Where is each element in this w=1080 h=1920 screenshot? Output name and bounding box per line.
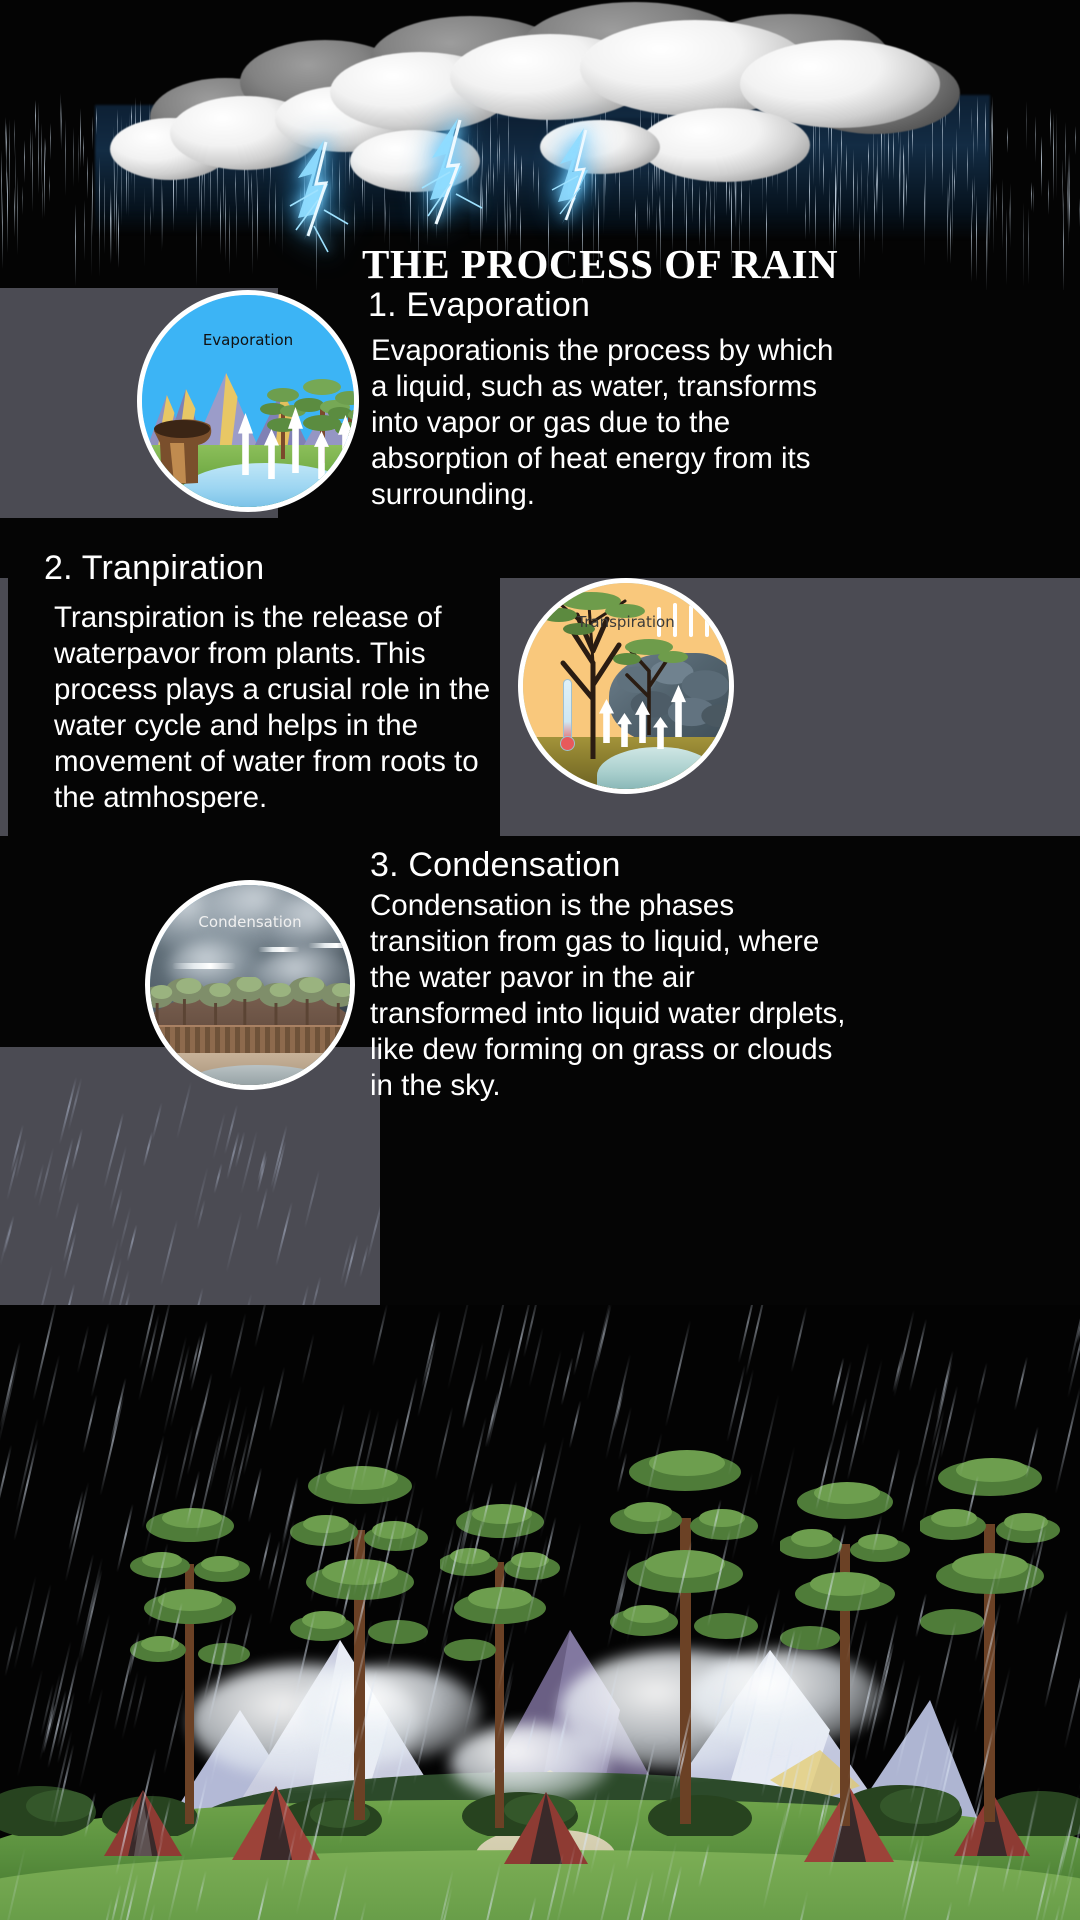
rain-streak bbox=[669, 1698, 695, 1804]
rain-streak bbox=[150, 1305, 172, 1383]
rain-streak bbox=[196, 206, 197, 286]
rain-streak bbox=[78, 134, 79, 184]
rain-streak bbox=[1010, 183, 1011, 248]
rain-streak bbox=[971, 108, 972, 136]
rain-streak bbox=[213, 1464, 237, 1560]
rain-streak bbox=[226, 1212, 243, 1273]
rain-streak bbox=[775, 1736, 794, 1811]
rain-streak bbox=[209, 1728, 224, 1786]
rain-streak bbox=[35, 1265, 53, 1309]
section-3-background-band bbox=[0, 1047, 380, 1309]
rain-streak bbox=[956, 128, 957, 180]
rain-streak bbox=[987, 183, 988, 271]
rain-streak bbox=[942, 1901, 953, 1920]
rain-streak bbox=[251, 1877, 270, 1920]
rain-streak bbox=[726, 1365, 746, 1442]
rain-streak bbox=[116, 1504, 134, 1573]
rain-streak bbox=[1025, 1426, 1039, 1478]
rain-streak bbox=[45, 138, 46, 164]
rain-streak bbox=[447, 1305, 471, 1390]
rain-streak bbox=[258, 1531, 271, 1581]
rain-streak bbox=[160, 1220, 178, 1286]
rain-streak bbox=[201, 165, 202, 250]
rain-streak bbox=[1064, 1641, 1080, 1749]
rain-streak bbox=[476, 1862, 501, 1920]
rain-streak bbox=[304, 1170, 320, 1229]
rain-streak bbox=[1031, 182, 1032, 211]
rain-streak bbox=[1028, 208, 1029, 285]
rain-streak bbox=[846, 144, 847, 191]
rain-streak bbox=[731, 1473, 753, 1562]
rain-streak bbox=[101, 1256, 115, 1305]
rain-streak bbox=[815, 1441, 833, 1511]
rain-streak bbox=[596, 1862, 615, 1920]
rain-streak bbox=[1015, 1793, 1040, 1893]
rain-streak bbox=[965, 1475, 979, 1527]
rain-streak bbox=[837, 141, 838, 191]
transpiration-illustration: Transpiration bbox=[518, 578, 734, 794]
rain-streak bbox=[90, 1323, 109, 1398]
rain-streak bbox=[937, 1718, 957, 1798]
rain-streak bbox=[341, 1901, 367, 1920]
rain-streak bbox=[326, 1865, 348, 1920]
rain-streak bbox=[950, 208, 951, 264]
rain-streak bbox=[906, 173, 907, 207]
rain-streak bbox=[877, 1642, 894, 1710]
rain-streak bbox=[734, 1604, 751, 1668]
rain-streak bbox=[979, 1603, 1002, 1693]
rain-streak bbox=[1023, 202, 1024, 287]
rain-streak bbox=[435, 1407, 454, 1481]
rain-streak bbox=[805, 200, 806, 240]
cloud-streak bbox=[308, 943, 355, 948]
rain-streak bbox=[497, 1620, 516, 1694]
rain-streak bbox=[252, 188, 253, 275]
rain-streak bbox=[229, 1313, 246, 1380]
rain-streak bbox=[0, 1355, 20, 1449]
rain-streak bbox=[525, 1714, 536, 1755]
rain-streak bbox=[229, 204, 230, 274]
rain-streak bbox=[754, 1394, 779, 1496]
rain-streak bbox=[1035, 116, 1036, 162]
tree-stump bbox=[150, 413, 218, 485]
rain-streak bbox=[5, 117, 6, 157]
rain-streak bbox=[935, 1725, 960, 1825]
rain-streak bbox=[882, 181, 883, 255]
rain-streak bbox=[648, 1507, 663, 1563]
rain-streak bbox=[269, 1367, 286, 1432]
rain-streak bbox=[510, 203, 511, 235]
infographic-poster: THE PROCESS OF RAIN bbox=[0, 0, 1080, 1920]
rain-streak bbox=[92, 116, 93, 150]
rain-streak bbox=[49, 175, 50, 202]
rain-streak bbox=[32, 131, 33, 212]
rain-streak bbox=[96, 107, 97, 135]
rain-streak bbox=[75, 204, 76, 286]
rain-streak bbox=[974, 175, 975, 209]
rain-streak bbox=[213, 1163, 222, 1194]
cloud-icon bbox=[640, 108, 810, 182]
rain-streaks bbox=[0, 1047, 380, 1309]
rain-streak bbox=[92, 161, 93, 237]
rain-streak bbox=[38, 102, 39, 164]
rain-streak bbox=[266, 1694, 283, 1761]
rain-streak bbox=[315, 1676, 339, 1771]
rain-streak bbox=[195, 1870, 207, 1913]
rain-streak bbox=[1009, 198, 1010, 235]
rain-streak bbox=[2, 191, 3, 269]
rain-streak bbox=[137, 1793, 154, 1859]
rain-streak bbox=[871, 1514, 882, 1554]
rain-streak bbox=[387, 1712, 413, 1816]
rain-streak bbox=[299, 1779, 315, 1842]
rain-streak bbox=[176, 1082, 192, 1140]
rain-streak bbox=[952, 202, 953, 247]
section-3-body: Condensation is the phases transition fr… bbox=[370, 888, 850, 1104]
rain-streak bbox=[525, 1896, 536, 1920]
rain-streak bbox=[111, 194, 112, 262]
rain-streak bbox=[816, 1549, 841, 1649]
rain-streak bbox=[59, 1077, 78, 1144]
rain-streak bbox=[386, 1585, 407, 1669]
rain-streak bbox=[162, 184, 163, 248]
rain-streak bbox=[359, 1244, 369, 1277]
rain-streak bbox=[783, 1890, 809, 1920]
rain-streak bbox=[257, 175, 258, 261]
rain-streak bbox=[1006, 208, 1007, 285]
rain-streak bbox=[30, 128, 31, 174]
rain-streak bbox=[809, 162, 810, 235]
rain-streak bbox=[770, 1446, 795, 1547]
rain-streak bbox=[569, 1400, 582, 1448]
rain-streak bbox=[873, 124, 874, 201]
rain-streak bbox=[741, 175, 742, 226]
rain-streak bbox=[87, 156, 88, 199]
rain-streak bbox=[710, 183, 711, 234]
rain-streaks bbox=[0, 1305, 1080, 1920]
rain-streak bbox=[925, 143, 926, 231]
rain-streak bbox=[104, 190, 105, 254]
wooden-fence bbox=[150, 1025, 350, 1055]
rain-streak bbox=[729, 180, 730, 211]
rain-streak bbox=[853, 149, 854, 232]
rain-streak bbox=[976, 195, 977, 281]
rain-streak bbox=[189, 1775, 208, 1850]
rain-streak bbox=[0, 1445, 12, 1518]
rain-streak bbox=[9, 119, 10, 207]
rain-streak bbox=[893, 128, 894, 180]
rain-streak bbox=[1044, 1610, 1068, 1708]
rain-streak bbox=[6, 123, 7, 171]
rain-streak bbox=[126, 1224, 137, 1261]
cloud-streak bbox=[258, 947, 300, 952]
rain-streak bbox=[736, 1692, 759, 1783]
rain-streak bbox=[381, 1418, 399, 1490]
rain-streak bbox=[625, 1812, 640, 1871]
rain-streak bbox=[904, 152, 905, 219]
rain-streak bbox=[954, 168, 955, 202]
rain-streak bbox=[992, 96, 993, 183]
rain-streak bbox=[15, 1418, 39, 1513]
rain-streak bbox=[1075, 126, 1076, 155]
rain-streak bbox=[524, 1535, 549, 1635]
rain-streak bbox=[948, 187, 949, 219]
cloud-streak bbox=[172, 963, 236, 969]
rain-streak bbox=[30, 1584, 52, 1669]
evaporation-circle-label: Evaporation bbox=[142, 331, 354, 349]
rain-streak bbox=[99, 192, 100, 277]
rain-streak bbox=[88, 1614, 111, 1705]
lightning-bolt-icon bbox=[398, 118, 508, 258]
rain-streak bbox=[56, 1656, 79, 1748]
rain-streak bbox=[909, 1319, 928, 1392]
rain-streak bbox=[109, 1378, 126, 1446]
rain-streak bbox=[797, 1728, 820, 1820]
rain-streak bbox=[1048, 179, 1049, 215]
rain-streak bbox=[73, 127, 74, 187]
rain-streak bbox=[83, 135, 84, 167]
rain-streak bbox=[7, 171, 8, 223]
rain-streak bbox=[487, 1560, 509, 1647]
rain-streak bbox=[884, 1449, 901, 1514]
rain-streak bbox=[1062, 159, 1063, 216]
rain-streak bbox=[1002, 1844, 1015, 1892]
rain-streak bbox=[554, 1707, 569, 1766]
evaporation-illustration: Evaporation bbox=[137, 290, 359, 512]
rain-streak bbox=[358, 1670, 377, 1745]
rain-streak bbox=[976, 1362, 988, 1404]
rain-streak bbox=[496, 1481, 517, 1564]
rain-streak bbox=[301, 1333, 315, 1384]
rain-streak bbox=[636, 1740, 657, 1822]
rain-streak bbox=[80, 108, 81, 168]
rain-streak bbox=[118, 203, 119, 268]
section-3-heading: 3. Condensation bbox=[370, 846, 621, 885]
rain-streak bbox=[877, 136, 878, 192]
rain-streak bbox=[1049, 1904, 1061, 1920]
rain-streak bbox=[275, 1202, 293, 1267]
rain-streak bbox=[864, 195, 865, 264]
rain-streak bbox=[150, 206, 151, 236]
rain-streak bbox=[874, 184, 875, 242]
rain-streak bbox=[562, 1523, 581, 1598]
rain-streak bbox=[144, 187, 145, 267]
rain-streak bbox=[421, 1311, 441, 1388]
rain-streak bbox=[151, 1102, 162, 1140]
condensation-circle-label: Condensation bbox=[150, 913, 350, 931]
rain-streak bbox=[24, 140, 25, 183]
rain-streak bbox=[22, 186, 23, 215]
rain-streak bbox=[256, 1187, 269, 1230]
rain-streak bbox=[220, 190, 221, 255]
rain-streak bbox=[2, 1847, 26, 1920]
rain-streak bbox=[649, 201, 650, 229]
rain-streak bbox=[967, 146, 968, 192]
rain-streak bbox=[1069, 188, 1070, 233]
rain-streak bbox=[367, 1200, 380, 1260]
rain-streak bbox=[313, 1447, 326, 1496]
rain-streak bbox=[861, 160, 862, 207]
thermometer-bulb-icon bbox=[560, 736, 575, 751]
rain-streak bbox=[868, 142, 869, 177]
section-2-body: Transpiration is the release of waterpav… bbox=[54, 600, 524, 816]
rain-streak bbox=[900, 129, 901, 201]
rain-streak bbox=[723, 1693, 738, 1748]
rain-streak bbox=[645, 1433, 662, 1501]
rain-streak bbox=[42, 179, 43, 219]
rain-streak bbox=[1056, 112, 1057, 199]
rain-streak bbox=[509, 190, 510, 238]
rain-streak bbox=[859, 206, 860, 280]
rain-streak bbox=[836, 1524, 847, 1563]
rain-streak bbox=[706, 181, 707, 211]
rain-streak bbox=[293, 1609, 316, 1701]
rain-streak bbox=[790, 1307, 807, 1373]
rain-streak bbox=[68, 1491, 84, 1551]
rain-streak bbox=[959, 1407, 977, 1478]
rain-streak bbox=[167, 1853, 186, 1920]
rain-streak bbox=[465, 1417, 487, 1504]
rain-streak bbox=[512, 1549, 524, 1592]
rain-streak bbox=[915, 1593, 927, 1637]
rain-streak bbox=[71, 1128, 83, 1170]
rain-streak bbox=[1041, 136, 1042, 197]
section-1-heading: 1. Evaporation bbox=[368, 286, 590, 325]
rain-streak bbox=[225, 183, 226, 262]
transpiration-circle-label: Transpiration bbox=[523, 613, 729, 631]
rain-streak bbox=[4, 1625, 18, 1676]
rain-streak bbox=[995, 1514, 1015, 1592]
rain-streak bbox=[485, 1392, 500, 1448]
rain-streak bbox=[50, 123, 51, 160]
rain-streak bbox=[985, 102, 986, 158]
rain-streak bbox=[42, 1355, 61, 1428]
rain-streak bbox=[908, 1770, 929, 1854]
rain-streak bbox=[77, 1325, 90, 1373]
rain-streak bbox=[340, 1583, 351, 1623]
rain-streak bbox=[371, 1704, 394, 1795]
rain-streak bbox=[761, 1708, 783, 1797]
rain-streak bbox=[514, 144, 515, 192]
rain-streak bbox=[235, 169, 236, 207]
rain-streak bbox=[561, 1357, 574, 1405]
forest-footer-scene bbox=[0, 1305, 1080, 1920]
rain-streak bbox=[707, 1529, 731, 1627]
rain-streak bbox=[239, 1612, 252, 1662]
rain-streak bbox=[13, 1438, 39, 1541]
rain-streak bbox=[61, 102, 62, 150]
rain-streak bbox=[3, 1215, 14, 1253]
rain-streak bbox=[573, 1330, 585, 1375]
rain-streak bbox=[845, 1578, 867, 1663]
rain-streak bbox=[828, 1774, 854, 1877]
rain-streak bbox=[65, 119, 66, 196]
rain-streak bbox=[99, 1394, 124, 1496]
rain-streak bbox=[65, 1482, 90, 1582]
rain-streak bbox=[0, 1342, 21, 1429]
rain-streak bbox=[243, 1385, 266, 1475]
rain-streak bbox=[1033, 185, 1034, 213]
rain-streak bbox=[423, 1631, 449, 1736]
rain-streak bbox=[82, 1395, 97, 1454]
rain-streak bbox=[841, 124, 842, 172]
rain-streak bbox=[967, 1857, 980, 1907]
rain-streak bbox=[698, 1843, 710, 1887]
rain-streak bbox=[248, 168, 249, 229]
rain-streak bbox=[427, 1886, 453, 1920]
rain-streak bbox=[647, 194, 648, 231]
rain-streak bbox=[933, 1621, 956, 1714]
rain-streak bbox=[991, 1667, 1011, 1746]
rain-streak bbox=[673, 1541, 692, 1617]
rain-streak bbox=[820, 1778, 835, 1833]
rain-streak bbox=[163, 1336, 188, 1435]
condensation-illustration: Condensation bbox=[145, 880, 355, 1090]
rain-streak bbox=[959, 96, 960, 130]
rain-streak bbox=[956, 1830, 971, 1886]
rain-streak bbox=[322, 1671, 344, 1760]
rain-streak bbox=[1063, 190, 1064, 228]
rain-streak bbox=[248, 1467, 263, 1522]
rain-streak bbox=[207, 1640, 228, 1724]
rain-streak bbox=[713, 1677, 728, 1734]
rain-streak bbox=[518, 168, 519, 200]
rain-streak bbox=[521, 155, 522, 187]
section-2-heading: 2. Tranpiration bbox=[44, 549, 264, 588]
rain-streak bbox=[254, 1305, 268, 1348]
rain-streak bbox=[1026, 101, 1027, 150]
rain-streak bbox=[616, 1877, 639, 1920]
rain-streak bbox=[1007, 127, 1008, 153]
rain-streak bbox=[1065, 122, 1066, 182]
rain-streak bbox=[463, 1630, 489, 1736]
rain-streak bbox=[528, 1328, 544, 1388]
rain-streak bbox=[1053, 113, 1054, 201]
rain-streak bbox=[346, 1726, 361, 1783]
rain-streak bbox=[169, 1602, 183, 1654]
rain-streak bbox=[1002, 179, 1003, 249]
rain-streak bbox=[710, 1499, 722, 1541]
rain-streak bbox=[990, 136, 991, 221]
rain-streak bbox=[508, 1305, 531, 1389]
rain-streak bbox=[413, 1722, 429, 1785]
rain-streak bbox=[190, 1321, 208, 1392]
rain-streak bbox=[850, 1343, 869, 1418]
rain-streak bbox=[15, 145, 16, 223]
rain-streak bbox=[214, 1604, 236, 1690]
rain-streak bbox=[829, 177, 830, 247]
rain-streak bbox=[899, 146, 900, 219]
rain-streak bbox=[909, 1719, 931, 1804]
rain-streak bbox=[372, 1305, 388, 1366]
rain-streak bbox=[895, 1674, 921, 1778]
rain-streak bbox=[825, 1419, 848, 1511]
lightning-bolt-icon bbox=[530, 128, 630, 248]
rain-streak bbox=[17, 176, 18, 255]
rain-streak bbox=[993, 186, 994, 254]
section-1-body: Evaporationis the process by which a liq… bbox=[371, 333, 841, 513]
rain-streak bbox=[972, 178, 973, 224]
rain-streak bbox=[398, 1506, 424, 1612]
rain-streak bbox=[989, 186, 990, 244]
rain-streak bbox=[888, 126, 889, 180]
rain-streak bbox=[996, 183, 997, 222]
rain-streak bbox=[186, 1470, 201, 1525]
rain-streak bbox=[84, 1792, 96, 1837]
rain-streak bbox=[32, 1305, 58, 1401]
rain-streak bbox=[665, 1320, 691, 1427]
rain-streak bbox=[79, 1688, 104, 1788]
